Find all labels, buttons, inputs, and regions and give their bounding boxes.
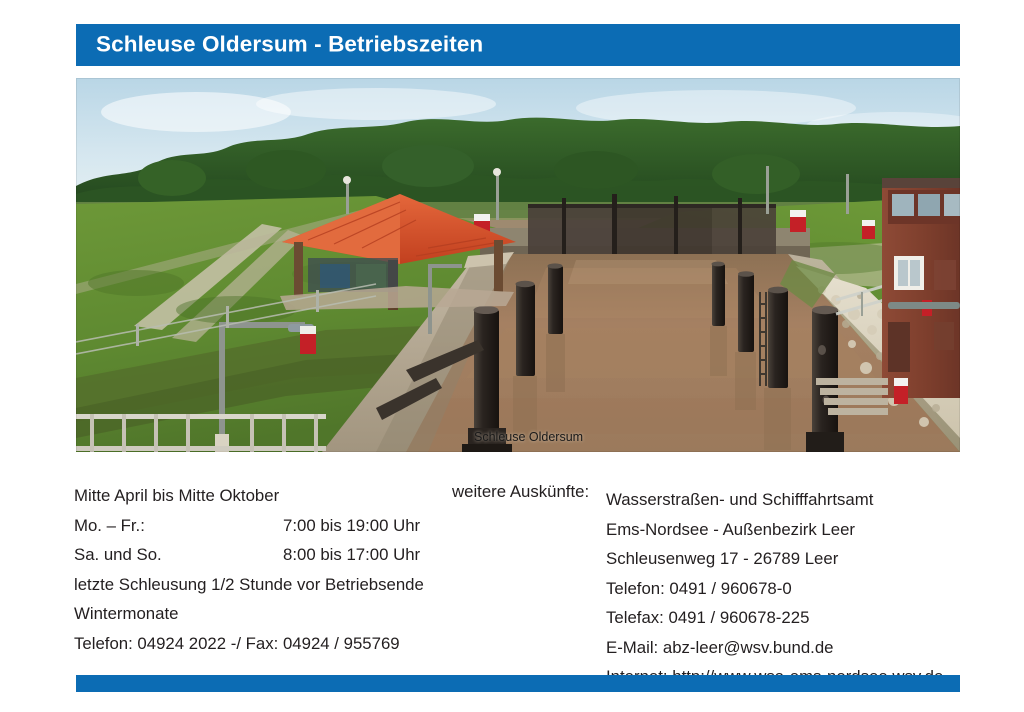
operating-hours-block: Mitte April bis Mitte Oktober Mo. – Fr.:… (74, 481, 474, 658)
winter-contact-line: Telefon: 04924 2022 -/ Fax: 04924 / 9557… (74, 629, 474, 659)
header-bar: Schleuse Oldersum - Betriebszeiten (76, 24, 960, 66)
contact-line-fax: Telefax: 0491 / 960678-225 (606, 603, 943, 633)
photo-caption: Schleuse Oldersum (474, 430, 583, 444)
winter-months-heading: Wintermonate (74, 599, 474, 629)
lock-photo-illustration (76, 78, 960, 452)
contact-line-address: Schleusenweg 17 - 26789 Leer (606, 544, 943, 574)
last-lockage-note: letzte Schleusung 1/2 Stunde vor Betrieb… (74, 570, 474, 600)
hours-row-value: 8:00 bis 17:00 Uhr (283, 540, 420, 570)
hours-row: Mo. – Fr.: 7:00 bis 19:00 Uhr (74, 511, 474, 541)
lock-photo: Schleuse Oldersum (76, 78, 960, 452)
hours-row-label: Sa. und So. (74, 540, 162, 570)
contact-label: weitere Auskünfte: (452, 477, 589, 507)
contact-line-authority: Wasserstraßen- und Schifffahrtsamt (606, 485, 943, 515)
hours-row-value: 7:00 bis 19:00 Uhr (283, 511, 420, 541)
contact-line-phone: Telefon: 0491 / 960678-0 (606, 574, 943, 604)
footer-bar (76, 675, 960, 692)
page-title: Schleuse Oldersum - Betriebszeiten (96, 31, 483, 57)
contact-line-department: Ems-Nordsee - Außenbezirk Leer (606, 515, 943, 545)
contact-line-email[interactable]: E-Mail: abz-leer@wsv.bund.de (606, 633, 943, 663)
season-line: Mitte April bis Mitte Oktober (74, 481, 474, 511)
hours-row-label: Mo. – Fr.: (74, 511, 145, 541)
contact-address-lines: Wasserstraßen- und Schifffahrtsamt Ems-N… (606, 485, 943, 692)
hours-row: Sa. und So. 8:00 bis 17:00 Uhr (74, 540, 474, 570)
